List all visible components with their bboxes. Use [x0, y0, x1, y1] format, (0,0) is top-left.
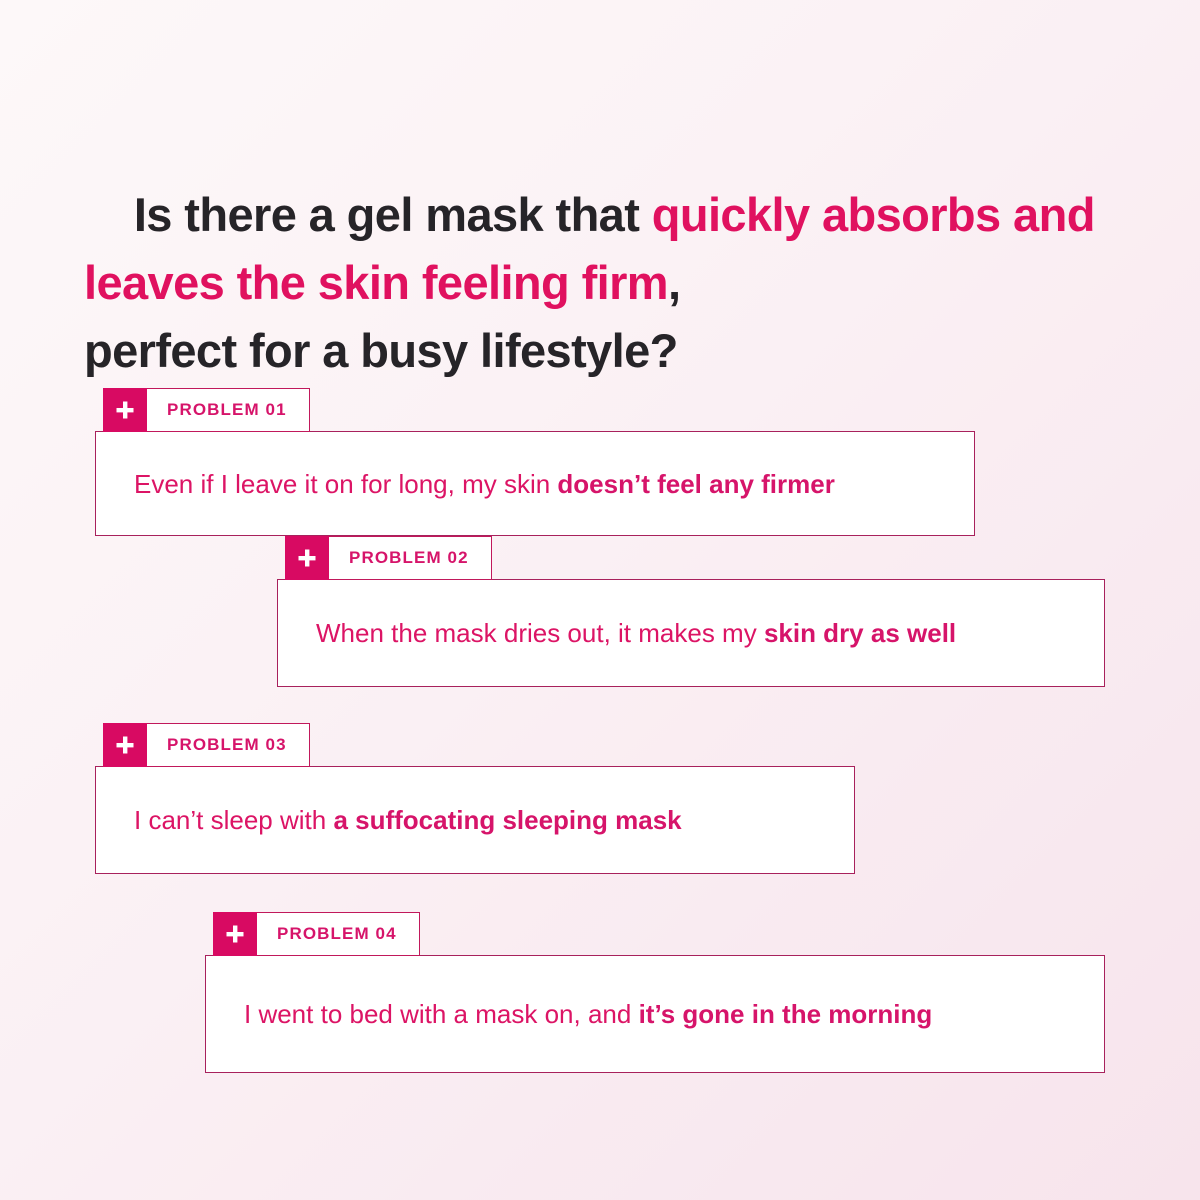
problem-text-emphasis-04: it’s gone in the morning	[639, 999, 933, 1029]
problem-card-04[interactable]: I went to bed with a mask on, and it’s g…	[205, 955, 1105, 1073]
problem-text-03: I can’t sleep with a suffocating sleepin…	[96, 803, 714, 837]
problem-tab-01[interactable]: PROBLEM 01	[103, 388, 310, 432]
problem-card-02[interactable]: When the mask dries out, it makes my ski…	[277, 579, 1105, 687]
problem-text-04: I went to bed with a mask on, and it’s g…	[206, 997, 964, 1031]
problem-tab-label-03: PROBLEM 03	[147, 724, 309, 766]
problem-text-01: Even if I leave it on for long, my skin …	[96, 467, 867, 501]
problem-text-plain-02: When the mask dries out, it makes my	[316, 618, 764, 648]
plus-icon	[103, 388, 147, 432]
problem-text-emphasis-02: skin dry as well	[764, 618, 956, 648]
problem-text-02: When the mask dries out, it makes my ski…	[278, 616, 988, 650]
poster-canvas: Is there a gel mask that quickly absorbs…	[0, 0, 1200, 1200]
plus-icon	[213, 912, 257, 956]
plus-icon	[103, 723, 147, 767]
problem-tab-label-04: PROBLEM 04	[257, 913, 419, 955]
problem-tab-label-01: PROBLEM 01	[147, 389, 309, 431]
problem-text-emphasis-01: doesn’t feel any firmer	[557, 469, 834, 499]
problem-text-plain-01: Even if I leave it on for long, my skin	[134, 469, 557, 499]
problem-tab-03[interactable]: PROBLEM 03	[103, 723, 310, 767]
problem-card-03[interactable]: I can’t sleep with a suffocating sleepin…	[95, 766, 855, 874]
problem-text-plain-03: I can’t sleep with	[134, 805, 333, 835]
problem-text-plain-04: I went to bed with a mask on, and	[244, 999, 639, 1029]
problem-tab-04[interactable]: PROBLEM 04	[213, 912, 420, 956]
problem-card-01[interactable]: Even if I leave it on for long, my skin …	[95, 431, 975, 536]
problem-tab-02[interactable]: PROBLEM 02	[285, 536, 492, 580]
problem-text-emphasis-03: a suffocating sleeping mask	[333, 805, 681, 835]
plus-icon	[285, 536, 329, 580]
problem-list: PROBLEM 01 Even if I leave it on for lon…	[0, 0, 1200, 1200]
problem-tab-label-02: PROBLEM 02	[329, 537, 491, 579]
